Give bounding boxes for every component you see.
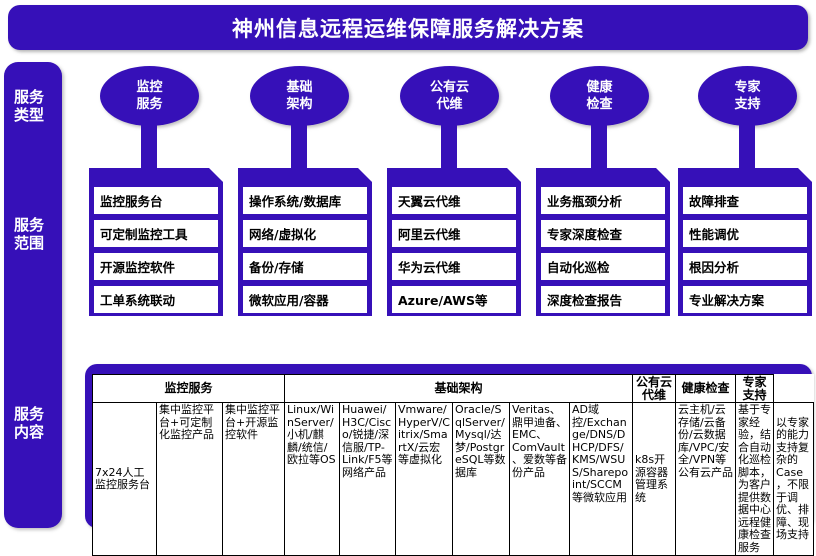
scope-item[interactable]: 备份/存储 (243, 253, 367, 280)
sidebar-item-service-scope-line2: 范围 (0, 234, 58, 252)
scope-item[interactable]: 阿里云代维 (392, 220, 516, 247)
scope-item[interactable]: 性能调优 (683, 220, 807, 247)
service-type-ellipse-infrastructure[interactable]: 基础 架构 (250, 66, 349, 126)
table-header-row: 监控服务 基础架构 公有云代维 健康检查 专家支持 (93, 375, 814, 403)
service-scope-card-public-cloud: 天翼云代维 阿里云代维 华为云代维 Azure/AWS等 (387, 168, 521, 316)
table-header-public-cloud: 公有云代维 (633, 375, 676, 403)
service-content-table: 监控服务 基础架构 公有云代维 健康检查 专家支持 7x24人工监控服务台 集中… (92, 374, 814, 556)
connector-infrastructure (291, 124, 307, 168)
sidebar-item-service-type-line2: 类型 (0, 106, 58, 124)
service-type-ellipse-health-check[interactable]: 健康 检查 (550, 66, 649, 126)
connector-health-check (591, 124, 607, 168)
sidebar-item-service-content-line2: 内容 (0, 423, 58, 441)
service-scope-card-health-check: 业务瓶颈分析 专家深度检查 自动化巡检 深度检查报告 (536, 168, 670, 316)
connector-public-cloud (441, 124, 457, 168)
sidebar-item-service-scope-line1: 服务 (0, 216, 58, 234)
scope-item[interactable]: Azure/AWS等 (392, 286, 516, 313)
service-type-label-monitoring: 监控 服务 (136, 79, 162, 113)
service-scope-card-infrastructure: 操作系统/数据库 网络/虚拟化 备份/存储 微软应用/容器 (238, 168, 372, 316)
scope-item[interactable]: 华为云代维 (392, 253, 516, 280)
scope-item[interactable]: 专家深度检查 (541, 220, 665, 247)
scope-item[interactable]: 开源监控软件 (94, 253, 218, 280)
table-header-expert-support: 专家支持 (736, 375, 774, 403)
connector-monitoring (141, 124, 157, 168)
service-type-label-infrastructure: 基础 架构 (286, 79, 312, 113)
table-header-monitoring: 监控服务 (93, 375, 285, 403)
table-header-health-check: 健康检查 (676, 375, 736, 403)
service-type-ellipse-monitoring[interactable]: 监控 服务 (100, 66, 199, 126)
sidebar-item-service-content: 服务 内容 (0, 405, 58, 441)
service-content-panel: 监控服务 基础架构 公有云代维 健康检查 专家支持 7x24人工监控服务台 集中… (85, 364, 812, 528)
page-title: 神州信息远程运维保障服务解决方案 (232, 13, 584, 43)
scope-item[interactable]: 工单系统联动 (94, 286, 218, 313)
scope-item[interactable]: 监控服务台 (94, 187, 218, 214)
service-type-label-public-cloud: 公有云 代维 (430, 79, 469, 113)
service-type-ellipse-public-cloud[interactable]: 公有云 代维 (400, 66, 499, 126)
scope-item[interactable]: 故障排查 (683, 187, 807, 214)
scope-item[interactable]: 网络/虚拟化 (243, 220, 367, 247)
scope-item[interactable]: 操作系统/数据库 (243, 187, 367, 214)
scope-item[interactable]: 可定制监控工具 (94, 220, 218, 247)
scope-item[interactable]: 业务瓶颈分析 (541, 187, 665, 214)
scope-item[interactable]: 根因分析 (683, 253, 807, 280)
scope-item[interactable]: 微软应用/容器 (243, 286, 367, 313)
service-type-label-health-check: 健康 检查 (586, 79, 612, 113)
category-sidebar (4, 62, 62, 528)
sidebar-item-service-scope: 服务 范围 (0, 216, 58, 252)
service-type-label-expert-support: 专家 支持 (734, 79, 760, 113)
sidebar-item-service-type: 服务 类型 (0, 88, 58, 124)
connector-expert-support (739, 124, 755, 168)
scope-item[interactable]: 自动化巡检 (541, 253, 665, 280)
service-scope-card-expert-support: 故障排查 性能调优 根因分析 专业解决方案 (678, 168, 812, 316)
scope-item[interactable]: 深度检查报告 (541, 286, 665, 313)
sidebar-item-service-content-line1: 服务 (0, 405, 58, 423)
scope-item[interactable]: 专业解决方案 (683, 286, 807, 313)
service-scope-card-monitoring: 监控服务台 可定制监控工具 开源监控软件 工单系统联动 (89, 168, 223, 316)
page-title-banner: 神州信息远程运维保障服务解决方案 (8, 5, 808, 50)
scope-item[interactable]: 天翼云代维 (392, 187, 516, 214)
sidebar-item-service-type-line1: 服务 (0, 88, 58, 106)
service-type-ellipse-expert-support[interactable]: 专家 支持 (698, 66, 797, 126)
table-header-infrastructure: 基础架构 (285, 375, 633, 403)
